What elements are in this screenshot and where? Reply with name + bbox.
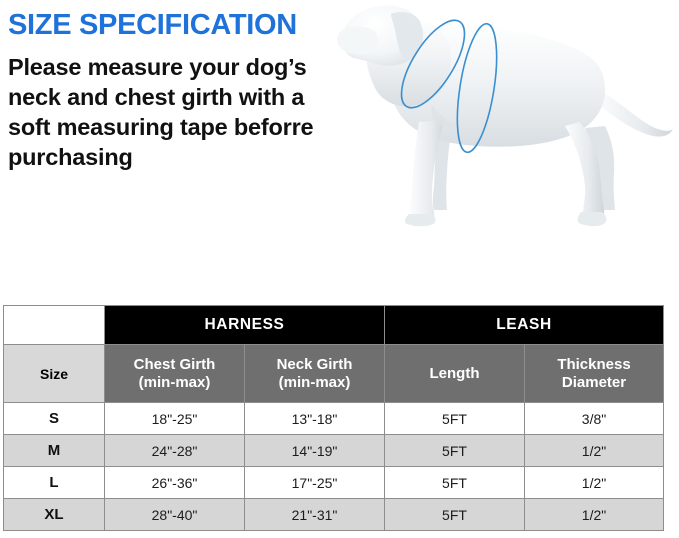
cell-neck-girth: 13"-18" [245,403,384,434]
table-row: XL 28"-40" 21"-31" 5FT 1/2" [4,499,663,530]
size-chart: HARNESS LEASH Size Chest Girth (min-max)… [3,305,664,531]
cell-length: 5FT [385,435,524,466]
cell-thickness: 3/8" [525,403,663,434]
cell-length: 5FT [385,499,524,530]
cell-thickness: 1/2" [525,467,663,498]
dog-tail [597,92,673,137]
cell-size: S [4,403,104,434]
cell-chest-girth: 26"-36" [105,467,244,498]
table-corner-blank [4,306,104,344]
cell-length: 5FT [385,403,524,434]
dog-near-hind-paw [578,212,607,226]
group-header-leash: LEASH [385,306,663,344]
cell-length: 5FT [385,467,524,498]
column-header-chest-girth: Chest Girth (min-max) [105,345,244,402]
cell-chest-girth: 28"-40" [105,499,244,530]
table-row: S 18"-25" 13"-18" 5FT 3/8" [4,403,663,434]
thickness-label-line2: Diameter [562,374,626,391]
dog-mannequin-graphic [333,0,679,240]
neck-girth-label-line2: (min-max) [279,374,351,391]
cell-neck-girth: 21"-31" [245,499,384,530]
table-row: M 24"-28" 14"-19" 5FT 1/2" [4,435,663,466]
column-header-thickness: Thickness Diameter [525,345,663,402]
column-header-neck-girth: Neck Girth (min-max) [245,345,384,402]
column-header-length: Length [385,345,524,402]
dog-mannequin-illustration [333,0,679,240]
thickness-label-line1: Thickness [557,356,630,373]
cell-size: XL [4,499,104,530]
cell-chest-girth: 18"-25" [105,403,244,434]
table-column-header-row: Size Chest Girth (min-max) Neck Girth (m… [4,345,663,402]
size-specification-table: HARNESS LEASH Size Chest Girth (min-max)… [3,305,662,531]
chest-girth-label-line1: Chest Girth [134,356,216,373]
cell-thickness: 1/2" [525,435,663,466]
cell-size: L [4,467,104,498]
cell-neck-girth: 17"-25" [245,467,384,498]
cell-chest-girth: 24"-28" [105,435,244,466]
column-header-size: Size [4,345,104,402]
intro-block: SIZE SPECIFICATION Please measure your d… [8,8,353,172]
dog-near-front-paw [405,214,436,226]
chest-girth-label-line2: (min-max) [139,374,211,391]
group-header-harness: HARNESS [105,306,384,344]
table-row: L 26"-36" 17"-25" 5FT 1/2" [4,467,663,498]
measuring-instructions: Please measure your dog’s neck and chest… [8,52,348,172]
table-group-header-row: HARNESS LEASH [4,306,663,344]
cell-thickness: 1/2" [525,499,663,530]
page-title: SIZE SPECIFICATION [8,8,353,42]
dog-muzzle [337,26,378,54]
neck-girth-label-line1: Neck Girth [277,356,353,373]
cell-neck-girth: 14"-19" [245,435,384,466]
cell-size: M [4,435,104,466]
